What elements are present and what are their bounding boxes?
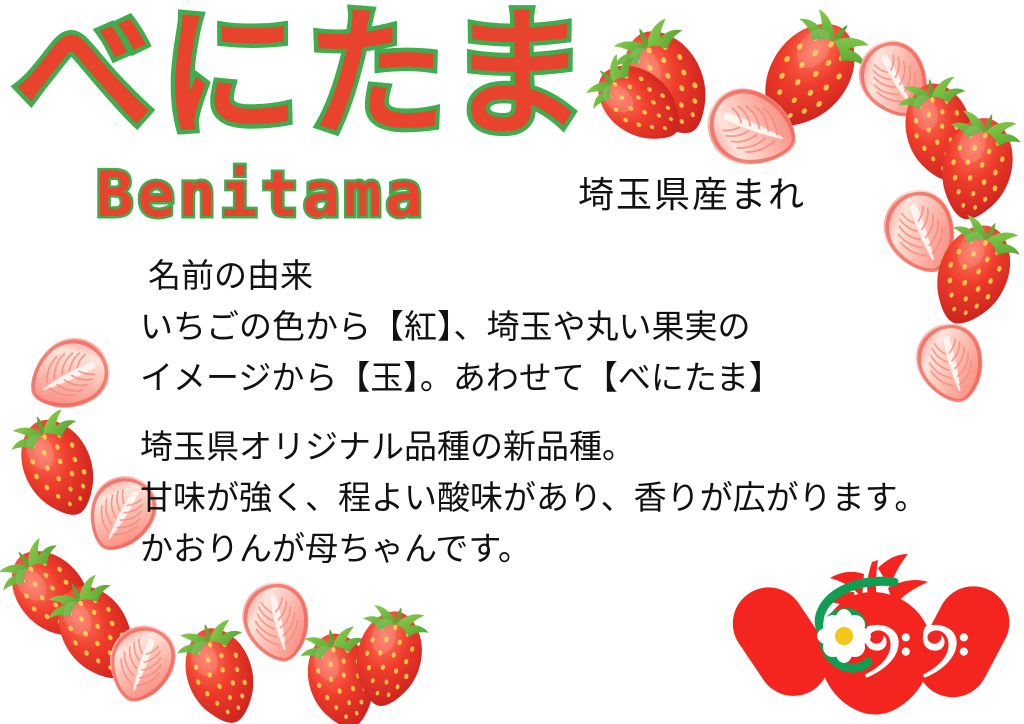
page-title-romaji: Benitama [96, 164, 427, 226]
berry-bottom-right-pair [289, 620, 394, 724]
berry-bottom-left-pair-b [34, 565, 159, 700]
page-title-japanese: べにたま [14, 2, 594, 149]
berry-bottom-left-pair [0, 526, 119, 663]
berry-top-cut [691, 72, 810, 187]
tagline: 埼玉県産まれ [578, 178, 806, 214]
origin-line-2: イメージから【玉】。あわせて【べにたま】 [140, 352, 782, 403]
berry-left-whole [0, 400, 119, 535]
berry-top-left-pair-b [575, 41, 703, 165]
berry-right-pair [888, 71, 990, 192]
description-line-2: 甘味が強く、程よい酸味があり、香りが広がります。 [140, 472, 927, 523]
berry-right-pair-b [922, 103, 1024, 232]
flower-center [835, 627, 853, 645]
berry-right-lower-cut [903, 312, 998, 414]
description-line-1: 埼玉県オリジナル品種の新品種。 [140, 421, 927, 472]
berry-left-cut [12, 320, 125, 429]
origin-line-1: いちごの色から【紅】、埼玉や丸い果実の [140, 301, 782, 352]
origin-heading: 名前の由来 [140, 250, 782, 301]
berry-bottom-right-pair-b [338, 599, 440, 718]
berry-bottom-center [164, 612, 277, 724]
berry-bottom-mid-cut [230, 571, 323, 673]
berry-bottom-cut [92, 610, 191, 716]
poster-canvas: べにたま Benitama 埼玉県産まれ 名前の由来 いちごの色から【紅】、埼玉… [0, 0, 1024, 724]
berry-top-left-pair [597, 7, 735, 156]
berry-right-lower [912, 206, 1024, 342]
berry-top-right-cut [840, 23, 948, 136]
berry-right-cut [867, 175, 974, 289]
strawberry-mascot-logo [722, 548, 1024, 724]
berry-top-center [732, 0, 885, 155]
origin-text-block: 名前の由来 いちごの色から【紅】、埼玉や丸い果実の イメージから【玉】。あわせて… [140, 250, 782, 403]
